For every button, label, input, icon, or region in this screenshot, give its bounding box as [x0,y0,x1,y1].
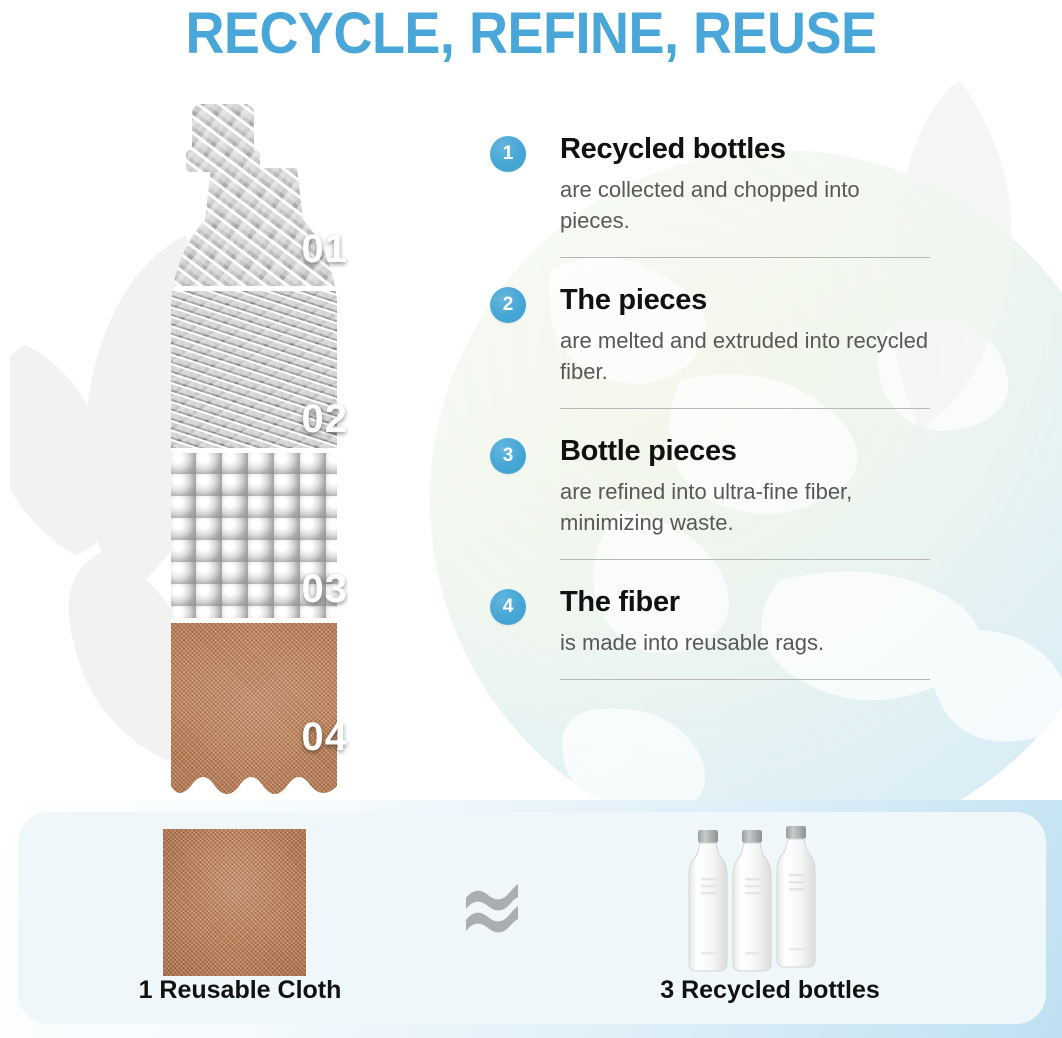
approximately-equal-icon [462,882,522,934]
step-body-3: are refined into ultra-fine fiber, minim… [560,476,930,538]
segment-number-04: 04 [302,715,349,760]
segment-02-texture [118,290,390,452]
segment-04-texture [118,622,390,800]
segment-01-texture [118,100,390,290]
cloth-swatch [163,829,306,976]
step-body-4: is made into reusable rags. [560,627,930,658]
cloth-label: 1 Reusable Cloth [60,976,420,1005]
process-step-4: 4 The fiber is made into reusable rags. [490,585,930,658]
segment-number-01: 01 [302,227,349,272]
recycled-bottles-group [688,824,843,976]
step-badge-4: 4 [490,589,526,625]
step-badge-2: 2 [490,287,526,323]
step-title-2: The pieces [560,283,930,317]
step-badge-3: 3 [490,438,526,474]
step-divider-4 [560,679,930,680]
step-divider-2 [560,408,930,409]
process-step-3: 3 Bottle pieces are refined into ultra-f… [490,434,930,538]
segment-03-texture [118,452,390,622]
segment-number-03: 03 [302,567,349,612]
process-step-2: 2 The pieces are melted and extruded int… [490,283,930,387]
step-divider-1 [560,257,930,258]
page-title: RECYCLE, REFINE, REUSE [37,2,1025,66]
segment-number-02: 02 [302,397,349,442]
bottles-label: 3 Recycled bottles [580,976,960,1005]
step-divider-3 [560,559,930,560]
step-title-1: Recycled bottles [560,132,930,166]
process-step-1: 1 Recycled bottles are collected and cho… [490,132,930,236]
step-badge-1: 1 [490,136,526,172]
step-body-1: are collected and chopped into pieces. [560,174,930,236]
process-step-list: 1 Recycled bottles are collected and cho… [490,132,930,680]
step-body-2: are melted and extruded into recycled fi… [560,325,930,387]
step-title-4: The fiber [560,585,930,619]
step-title-3: Bottle pieces [560,434,930,468]
bottle-process-graphic: 01 02 03 04 [118,100,390,800]
infographic-canvas: RECYCLE, REFINE, REUSE [0,0,1062,1038]
